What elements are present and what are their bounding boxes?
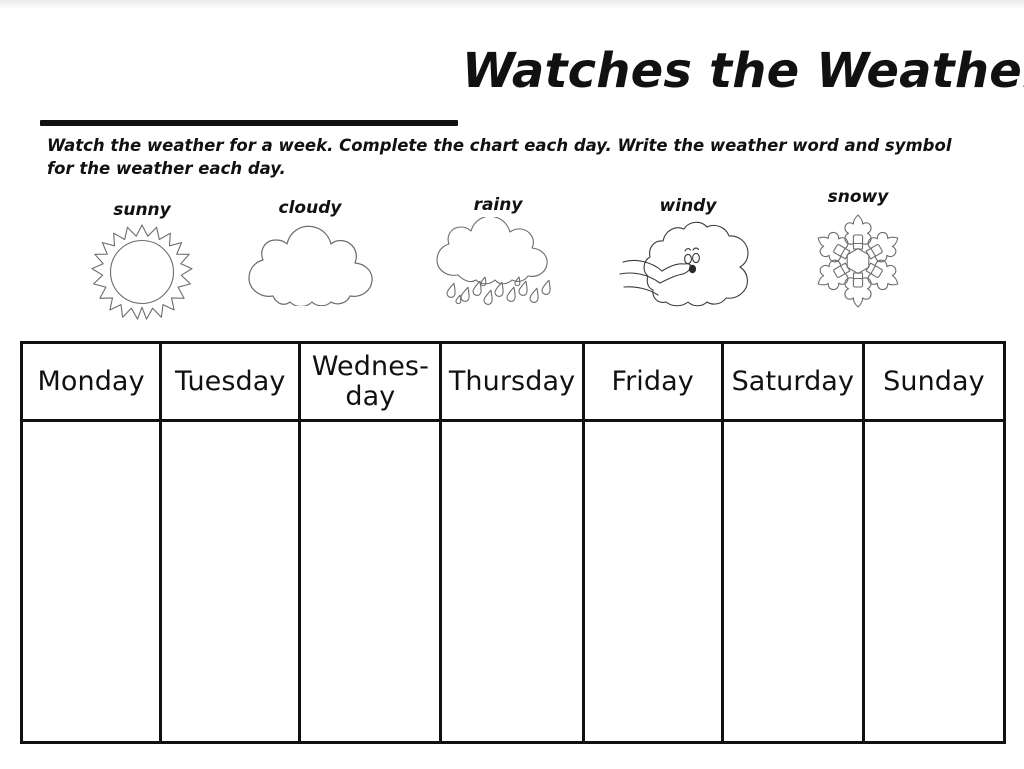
weather-key-label-sunny: sunny	[62, 200, 222, 220]
day-label-line: Monday	[37, 367, 144, 397]
table-body-row	[23, 422, 1003, 741]
table-header-friday: Friday	[585, 344, 724, 419]
page-top-edge	[0, 0, 1024, 9]
weather-key-item-rainy: rainy	[418, 195, 578, 315]
table-header-row: Monday Tuesday Wednes- day Thursday Frid…	[23, 344, 1003, 422]
table-header-saturday: Saturday	[724, 344, 865, 419]
snowflake-icon	[806, 209, 910, 313]
table-header-sunday: Sunday	[865, 344, 1003, 419]
answer-cell-thursday[interactable]	[442, 422, 584, 741]
answer-cell-tuesday[interactable]	[162, 422, 301, 741]
answer-cell-saturday[interactable]	[724, 422, 865, 741]
rain-cloud-icon	[432, 217, 564, 315]
sun-icon	[90, 222, 194, 324]
wind-cloud-icon	[618, 218, 758, 314]
answer-cell-monday[interactable]	[23, 422, 162, 741]
cloud-icon	[243, 220, 377, 306]
weather-key-label-windy: windy	[608, 196, 768, 216]
student-name-blank[interactable]	[40, 120, 458, 126]
weather-key-item-windy: windy	[608, 196, 768, 314]
table-header-thursday: Thursday	[442, 344, 584, 419]
table-header-monday: Monday	[23, 344, 162, 419]
answer-cell-sunday[interactable]	[865, 422, 1003, 741]
day-label-line: Sunday	[883, 367, 985, 397]
table-header-tuesday: Tuesday	[162, 344, 301, 419]
weather-key-item-cloudy: cloudy	[230, 198, 390, 306]
day-label-line: Saturday	[732, 367, 854, 397]
table-header-wednesday: Wednes- day	[301, 344, 442, 419]
weather-chart-table: Monday Tuesday Wednes- day Thursday Frid…	[20, 341, 1006, 744]
instructions-text: Watch the weather for a week. Complete t…	[47, 134, 972, 180]
day-label-line: Thursday	[449, 367, 575, 397]
answer-cell-friday[interactable]	[585, 422, 724, 741]
weather-key-label-cloudy: cloudy	[230, 198, 390, 218]
weather-key-label-rainy: rainy	[418, 195, 578, 215]
day-label-line: day	[312, 382, 429, 412]
page-title: Watches the Weather	[462, 42, 1024, 100]
weather-key-item-sunny: sunny	[62, 200, 222, 324]
weather-key-item-snowy: snowy	[778, 187, 938, 313]
day-label-line: Friday	[611, 367, 693, 397]
weather-key-label-snowy: snowy	[778, 187, 938, 207]
day-label-line: Wednes-	[312, 352, 429, 382]
weather-key: sunny cloudy rainy	[0, 192, 1024, 332]
answer-cell-wednesday[interactable]	[301, 422, 442, 741]
title-row: Watches the Weather	[0, 36, 1024, 102]
day-label-line: Tuesday	[175, 367, 286, 397]
